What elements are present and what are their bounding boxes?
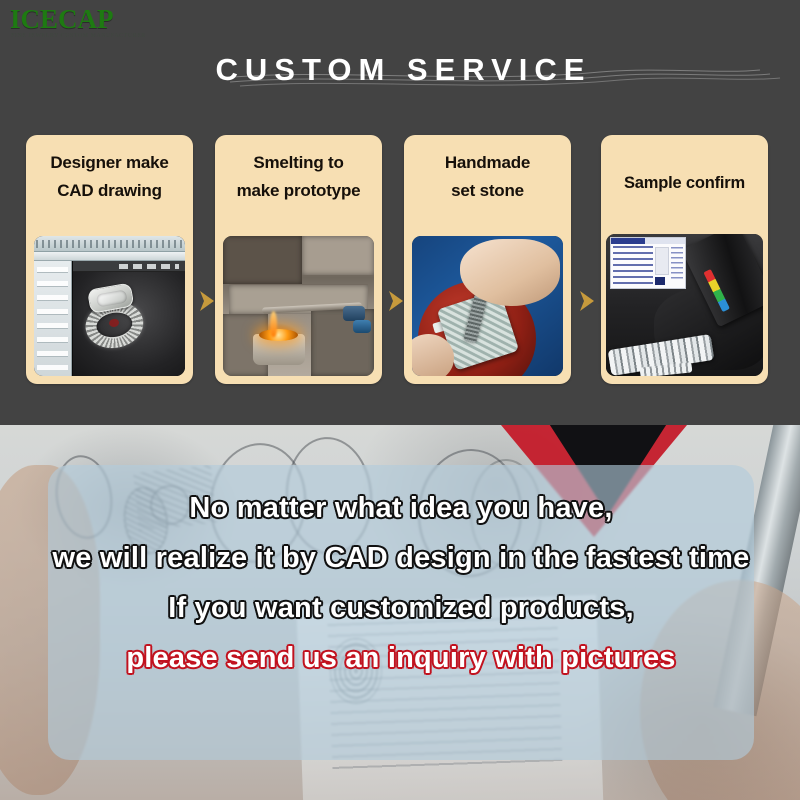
step-2-line1: Smelting to: [253, 153, 343, 172]
step-3-label: Handmade set stone: [404, 135, 571, 205]
promo-panel: No matter what idea you have, we will re…: [48, 465, 754, 760]
chevron-right-icon: [194, 286, 220, 316]
promo-line-1: No matter what idea you have,: [48, 483, 754, 533]
promo-line-2: we will realize it by CAD design in the …: [48, 533, 754, 583]
chevron-right-icon: [383, 286, 409, 316]
header-section: ICECAP FINE JEWELRY CUSTOM MANUFACTURER …: [0, 0, 800, 425]
step-1-line1: Designer make: [50, 153, 168, 172]
process-step-card-1[interactable]: Designer make CAD drawing: [26, 135, 193, 384]
brand-logo[interactable]: ICECAP: [10, 6, 114, 33]
step-2-line2: make prototype: [237, 181, 361, 200]
process-step-card-2[interactable]: Smelting to make prototype: [215, 135, 382, 384]
step-3-line2: set stone: [451, 181, 524, 200]
promo-line-3: If you want customized products,: [48, 583, 754, 633]
process-step-card-4[interactable]: Sample confirm: [601, 135, 768, 384]
page-title: CUSTOM SERVICE: [0, 48, 800, 92]
step-1-photo: [34, 236, 185, 376]
step-1-label: Designer make CAD drawing: [26, 135, 193, 205]
promo-line-4-cta: please send us an inquiry with pictures: [48, 633, 754, 683]
promo-section: No matter what idea you have, we will re…: [0, 425, 800, 800]
page-title-wrap: CUSTOM SERVICE: [0, 48, 800, 92]
process-steps: Designer make CAD drawing: [0, 135, 800, 385]
step-4-line1: Sample confirm: [624, 174, 745, 192]
promo-text-block: No matter what idea you have, we will re…: [48, 465, 754, 683]
step-4-label: Sample confirm: [601, 135, 768, 197]
chevron-right-icon: [574, 286, 600, 316]
brand-tagline: FINE JEWELRY CUSTOM MANUFACTURER: [11, 33, 146, 39]
step-2-label: Smelting to make prototype: [215, 135, 382, 205]
step-3-photo: [412, 236, 563, 376]
step-3-line1: Handmade: [445, 153, 530, 172]
step-4-photo: [606, 234, 763, 376]
step-1-line2: CAD drawing: [57, 181, 162, 200]
step-2-photo: [223, 236, 374, 376]
process-step-card-3[interactable]: Handmade set stone: [404, 135, 571, 384]
